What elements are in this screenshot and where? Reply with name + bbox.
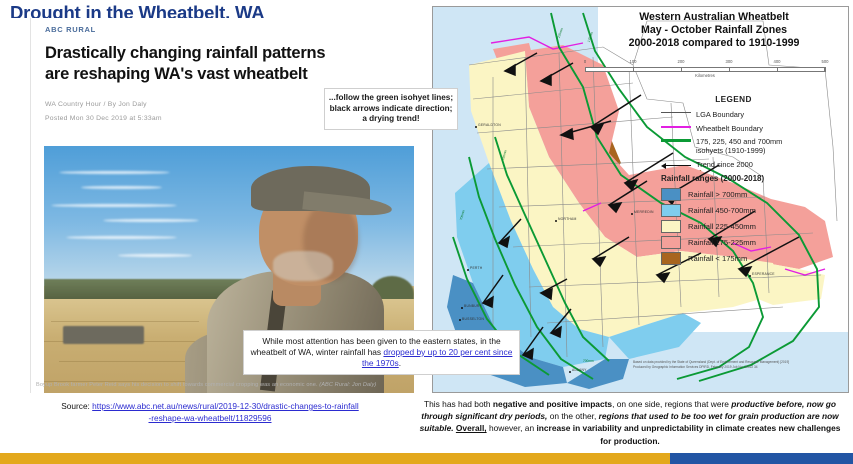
legend-label-isohyets: 175, 225, 450 and 700mm isohyets (1910-1… xyxy=(696,136,806,156)
legend-range-label-0: Rainfall > 700mm xyxy=(688,190,747,199)
legend-title: LEGEND xyxy=(661,95,806,105)
isohyet-label-700b: 700mm xyxy=(583,359,594,363)
legend-range-gt700: Rainfall > 700mm xyxy=(661,188,806,201)
map-scalebar: 0 100 200 300 400 500 Kilometres xyxy=(585,59,825,75)
legend-range-label-4: Rainfall < 175mm xyxy=(688,254,747,263)
callout-rainfall-note: While most attention has been given to t… xyxy=(243,330,520,375)
legend-label-trend: Trend since 2000 xyxy=(696,159,753,169)
lga-line-icon xyxy=(661,109,691,113)
trend-arrow-icon xyxy=(661,159,691,168)
callout-mid-link[interactable]: dropped by up to 20 per cent since the 1… xyxy=(362,347,512,368)
source-citation: Source: https://www.abc.net.au/news/rura… xyxy=(60,400,360,424)
concl-b1: negative and positive impacts xyxy=(493,399,612,409)
legend-range-lt175: Rainfall < 175mm xyxy=(661,252,806,265)
legend-label-lga: LGA Boundary xyxy=(696,109,744,119)
map-title-line3: 2000-2018 compared to 1910-1999 xyxy=(583,37,845,50)
callout-isohyet-note: ...follow the green isohyet lines; black… xyxy=(324,88,458,130)
legend-range-label-3: Rainfall 175-225mm xyxy=(688,238,756,247)
wheatbelt-line-icon xyxy=(661,123,691,128)
legend-range-label-1: Rainfall 450-700mm xyxy=(688,206,756,215)
footer-bar-gold xyxy=(0,453,670,464)
scalebar-tick-5: 500 xyxy=(822,59,829,64)
concl-t2: , on one side, regions that were xyxy=(612,399,731,409)
concl-u1: Overall, xyxy=(456,423,487,433)
legend-ranges-title: Rainfall ranges (2000-2018) xyxy=(661,174,806,184)
photo-caption: Boyup Brook farmer Peter Reid says his d… xyxy=(36,382,408,388)
place-label-geraldton: GERALDTON xyxy=(478,123,501,127)
place-label-albany: ALBANY xyxy=(572,368,587,372)
swatch-175-225-icon xyxy=(661,236,681,249)
legend-range-label-2: Rainfall 225-450mm xyxy=(688,222,756,231)
photo-farmer-beard xyxy=(273,251,332,281)
legend-range-450-700: Rainfall 450-700mm xyxy=(661,204,806,217)
scalebar-units: Kilometres xyxy=(695,73,715,78)
scalebar-tick-1: 100 xyxy=(630,59,637,64)
place-label-perth: PERTH xyxy=(470,266,482,270)
map-title-line2: May - October Rainfall Zones xyxy=(583,24,845,37)
footer-bar-blue xyxy=(670,453,853,464)
legend-range-175-225: Rainfall 175-225mm xyxy=(661,236,806,249)
swatch-lt175-icon xyxy=(661,252,681,265)
legend-label-wheatbelt: Wheatbelt Boundary xyxy=(696,123,763,133)
swatch-450-700-icon xyxy=(661,204,681,217)
source-link[interactable]: https://www.abc.net.au/news/rural/2019-1… xyxy=(92,401,359,423)
concl-t5: however, an xyxy=(487,423,537,433)
article-headline: Drastically changing rainfall patterns a… xyxy=(45,43,345,85)
scalebar-tick-2: 200 xyxy=(678,59,685,64)
scalebar-bar xyxy=(585,67,825,72)
map-title-line1: Western Australian Wheatbelt xyxy=(583,11,845,24)
legend-item-isohyets: 175, 225, 450 and 700mm isohyets (1910-1… xyxy=(661,136,806,156)
source-label: Source: xyxy=(61,401,90,411)
map-title: Western Australian Wheatbelt May - Octob… xyxy=(583,11,845,50)
legend-range-225-450: Rainfall 225-450mm xyxy=(661,220,806,233)
concl-t1: This has had both xyxy=(424,399,493,409)
concl-t3: on the other, xyxy=(547,411,598,421)
place-label-bunbury: BUNBURY xyxy=(464,304,482,308)
isohyet-line-icon xyxy=(661,136,691,142)
conclusion-paragraph: This has had both negative and positive … xyxy=(414,398,846,447)
article-kicker: ABC RURAL xyxy=(45,25,414,34)
legend-item-trend: Trend since 2000 xyxy=(661,159,806,169)
photo-harvester xyxy=(63,326,144,344)
photo-caption-text: Boyup Brook farmer Peter Reid says his d… xyxy=(36,382,318,388)
scalebar-tick-3: 300 xyxy=(726,59,733,64)
legend-item-lga-boundary: LGA Boundary xyxy=(661,109,806,119)
place-label-merredin: MERREDIN xyxy=(634,210,654,214)
callout-mid-text2: . xyxy=(399,358,401,368)
photo-sky xyxy=(44,146,414,286)
legend-item-wheatbelt-boundary: Wheatbelt Boundary xyxy=(661,123,806,133)
concl-b2: increase in variability and unpredictabi… xyxy=(536,423,840,445)
swatch-225-450-icon xyxy=(661,220,681,233)
place-label-northam: NORTHAM xyxy=(558,217,576,221)
photo-caption-credit: (ABC Rural: Jon Daly) xyxy=(319,382,376,388)
swatch-gt700-icon xyxy=(661,188,681,201)
scalebar-tick-4: 400 xyxy=(774,59,781,64)
map-legend: LEGEND LGA Boundary Wheatbelt Boundary 1… xyxy=(661,95,806,268)
place-label-esperance: ESPERANCE xyxy=(752,272,775,276)
map-credit-text: Based on data provided by the State of Q… xyxy=(633,360,803,370)
place-label-busselton: BUSSELTON xyxy=(462,317,484,321)
scalebar-tick-0: 0 xyxy=(584,59,586,64)
